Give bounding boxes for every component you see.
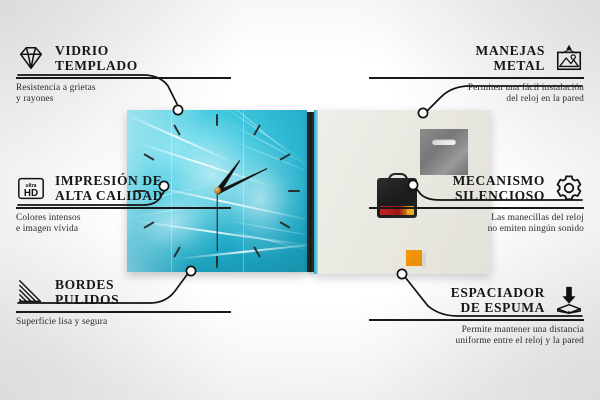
- feature-divider: [16, 207, 231, 209]
- feature-divider: [369, 77, 584, 79]
- feature-espaciador-espuma: ESPACIADOR DE ESPUMA Permite mantener un…: [369, 285, 584, 348]
- metal-hanger-plate: [420, 129, 468, 175]
- feature-sub-line1: Permite mantener una distancia: [369, 325, 584, 337]
- feature-title-line1: MECANISMO: [453, 173, 545, 188]
- foam-spacer-pad: [406, 250, 422, 266]
- feature-sub-line1: Resistencia a grietas: [16, 83, 231, 95]
- feature-title-line2: DE ESPUMA: [451, 300, 545, 315]
- feature-bordes-pulidos: BORDES PULIDOS Superficie lisa y segura: [16, 277, 231, 328]
- feature-sub-line2: no emiten ningún sonido: [369, 224, 584, 236]
- feature-title-line1: VIDRIO: [55, 43, 138, 58]
- feature-title-line2: TEMPLADO: [55, 58, 138, 73]
- feature-title-line1: BORDES: [55, 277, 119, 292]
- feature-title-line2: ALTA CALIDAD: [55, 188, 163, 203]
- hanger-slot: [432, 139, 456, 145]
- feature-divider: [16, 311, 231, 313]
- feature-manejas-metal: MANEJAS METAL Permiten una fácil instala…: [369, 43, 584, 106]
- feature-impresion-alta-calidad: ultra HD IMPRESIÓN DE ALTA CALIDAD Color…: [16, 173, 231, 236]
- feature-sub-line1: Colores intensos: [16, 213, 231, 225]
- ultra-hd-icon: ultra HD: [16, 173, 46, 203]
- feature-sub-line2: uniforme entre el reloj y la pared: [369, 336, 584, 348]
- foam-spacer-arrow-icon: [554, 285, 584, 315]
- beveled-edge-icon: [16, 277, 46, 307]
- feature-mecanismo-silencioso: MECANISMO SILENCIOSO Las manecillas del …: [369, 173, 584, 236]
- feature-title-line2: METAL: [476, 58, 545, 73]
- feature-sub-line2: y rayones: [16, 94, 231, 106]
- feature-sub-line2: del reloj en la pared: [369, 94, 584, 106]
- feature-sub-line1: Las manecillas del reloj: [369, 213, 584, 225]
- infographic-canvas: VIDRIO TEMPLADO Resistencia a grietas y …: [0, 0, 600, 400]
- feature-vidrio-templado: VIDRIO TEMPLADO Resistencia a grietas y …: [16, 43, 231, 106]
- gear-icon: [554, 173, 584, 203]
- clock-side-edge: [307, 112, 314, 272]
- feature-divider: [369, 319, 584, 321]
- ultra-hd-icon-large-text: HD: [24, 188, 38, 199]
- hanging-picture-icon: [554, 43, 584, 73]
- feature-title-line2: SILENCIOSO: [453, 188, 545, 203]
- feature-sub-line1: Superficie lisa y segura: [16, 317, 231, 329]
- feature-divider: [369, 207, 584, 209]
- feature-title-line1: IMPRESIÓN DE: [55, 173, 163, 188]
- feature-sub-line2: e imagen vívida: [16, 224, 231, 236]
- feature-title-line1: MANEJAS: [476, 43, 545, 58]
- feature-title-line2: PULIDOS: [55, 292, 119, 307]
- diamond-icon: [16, 43, 46, 73]
- feature-sub-line1: Permiten una fácil instalación: [369, 83, 584, 95]
- feature-title-line1: ESPACIADOR: [451, 285, 545, 300]
- feature-divider: [16, 77, 231, 79]
